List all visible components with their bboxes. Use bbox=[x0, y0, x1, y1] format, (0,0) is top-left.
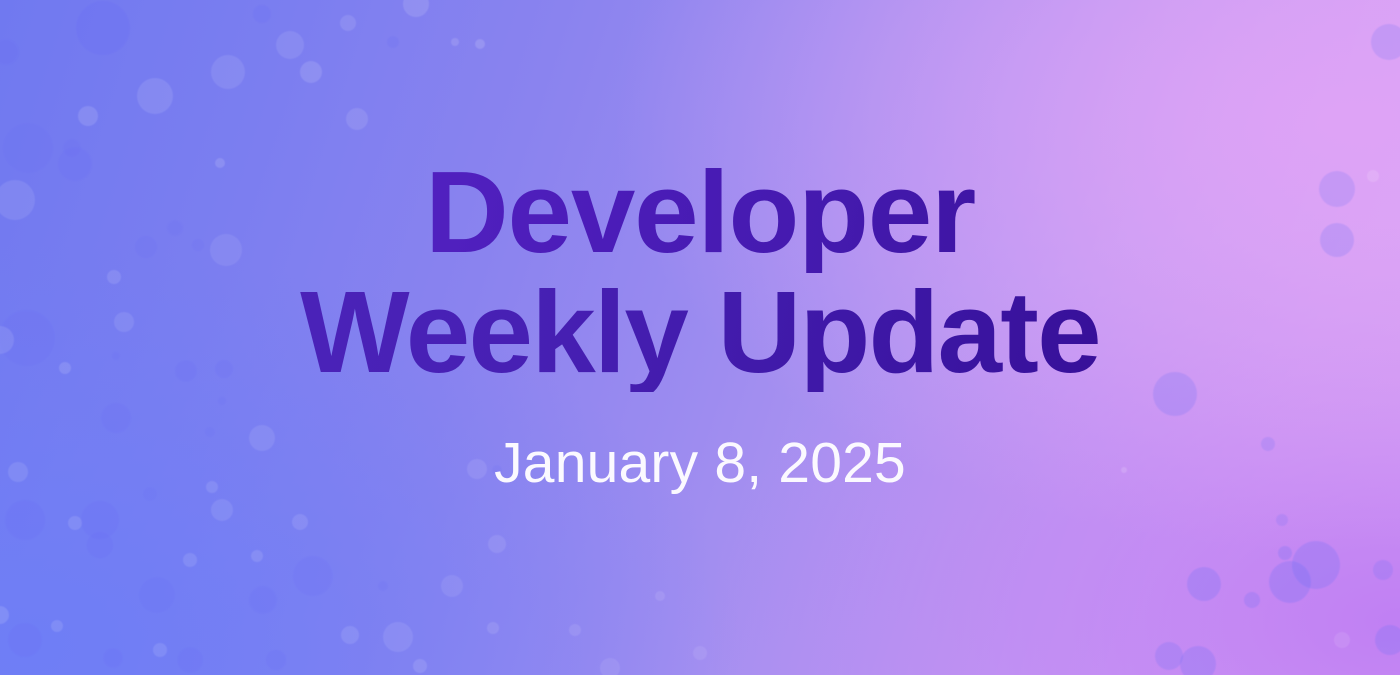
title-line-2: Weekly Update bbox=[140, 273, 1260, 392]
developer-weekly-banner: Developer Weekly Update January 8, 2025 bbox=[0, 0, 1400, 675]
banner-content: Developer Weekly Update January 8, 2025 bbox=[0, 0, 1400, 675]
page-title: Developer Weekly Update bbox=[140, 153, 1260, 392]
title-line-1: Developer bbox=[140, 153, 1260, 272]
banner-date-subtitle: January 8, 2025 bbox=[494, 430, 906, 496]
